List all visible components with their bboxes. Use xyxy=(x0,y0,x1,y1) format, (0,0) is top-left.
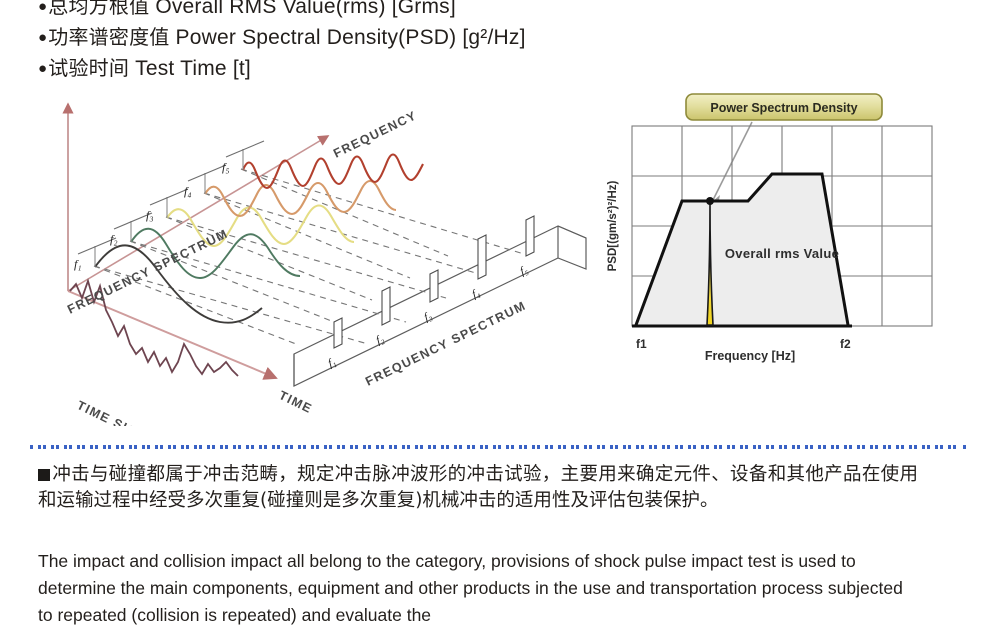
psd-callout-anchor-dot xyxy=(706,197,714,205)
waterfall-diagram: f₁ f₂ f₃ f₄ f₅ f₁ f₂ f₃ xyxy=(38,86,598,426)
figure-band: f₁ f₂ f₃ f₄ f₅ f₁ f₂ f₃ xyxy=(38,86,960,426)
spectrum-bar-label-f2: f₂ xyxy=(374,333,385,347)
psd-x-tick-end: f2 xyxy=(840,337,851,351)
psd-chart: Power Spectrum Density xyxy=(600,86,960,404)
diagram-base-slab xyxy=(294,226,586,386)
spectrum-bar-label-f3: f₃ xyxy=(422,310,433,324)
bullet-label-cn-0: 总均方根值 xyxy=(48,0,149,18)
bullet-label-cn-2: 试验时间 xyxy=(48,56,129,80)
label-frequency-axis: FREQUENCY xyxy=(331,108,419,161)
spectrum-bar-label-f4: f₄ xyxy=(470,287,481,301)
psd-x-tick-start: f1 xyxy=(636,337,647,351)
psd-inner-label: Overall rms Value xyxy=(725,246,839,261)
bullet-label-en-2: Test Time [t] xyxy=(135,57,251,80)
freq-tick-label-f5: f₅ xyxy=(222,160,230,174)
component-waveforms xyxy=(70,155,423,377)
paragraph-chinese: 冲击与碰撞都属于冲击范畴，规定冲击脉冲波形的冲击试验，主要用来确定元件、设备和其… xyxy=(38,462,918,514)
freq-tick-label-f2: f₂ xyxy=(110,232,118,246)
spectrum-bar-label-f5: f₅ xyxy=(518,264,529,278)
projection-guides xyxy=(94,169,524,344)
bullet-label-cn-1: 功率谱密度值 xyxy=(48,25,169,49)
bullet-dot-icon: ● xyxy=(38,0,47,15)
freq-tick-label-f3: f₃ xyxy=(146,208,154,222)
divider-svg xyxy=(30,444,970,450)
section-divider xyxy=(30,437,970,443)
psd-chart-svg: Power Spectrum Density xyxy=(600,86,960,404)
frequency-axis-tick-labels: f₁ f₂ f₃ f₄ f₅ xyxy=(74,160,230,271)
paragraph-chinese-text: 冲击与碰撞都属于冲击范畴，规定冲击脉冲波形的冲击试验，主要用来确定元件、设备和其… xyxy=(38,464,918,511)
bullet-list: ●总均方根值 Overall RMS Value(rms) [Grms] ●功率… xyxy=(38,0,938,84)
diagram-annotations: FREQUENCY SPECTRUM FREQUENCY TIME SIGNAL… xyxy=(65,108,528,426)
bullet-dot-icon: ● xyxy=(38,60,47,77)
bullet-item-2: ●试验时间 Test Time [t] xyxy=(38,53,938,84)
bullet-item-0: ●总均方根值 Overall RMS Value(rms) [Grms] xyxy=(38,0,938,22)
bullet-item-1: ●功率谱密度值 Power Spectral Density(PSD) [g²/… xyxy=(38,22,938,53)
divider-dots xyxy=(30,445,966,449)
frequency-axis-ticks xyxy=(78,141,264,267)
bullet-label-en-0: Overall RMS Value(rms) [Grms] xyxy=(155,0,456,18)
psd-y-axis-label: PSD[(gm/s²)²/Hz) xyxy=(607,180,619,271)
bullet-label-en-1: Power Spectral Density(PSD) [g²/Hz] xyxy=(176,26,526,49)
label-time-axis: TIME xyxy=(277,388,315,416)
freq-tick-label-f1: f₁ xyxy=(74,257,82,271)
freq-tick-label-f4: f₄ xyxy=(184,184,192,198)
square-bullet-icon xyxy=(38,469,50,481)
psd-x-axis-label: Frequency [Hz] xyxy=(705,349,795,363)
paragraph-english: The impact and collision impact all belo… xyxy=(38,548,918,629)
bullet-dot-icon: ● xyxy=(38,29,47,46)
spectrum-bars xyxy=(334,216,534,348)
label-time-signal: TIME SIGNAL xyxy=(75,398,167,426)
spectrum-bar-label-f1: f₁ xyxy=(326,356,337,370)
page-root: ●总均方根值 Overall RMS Value(rms) [Grms] ●功率… xyxy=(0,0,1000,623)
waterfall-svg: f₁ f₂ f₃ f₄ f₅ f₁ f₂ f₃ xyxy=(38,86,598,426)
psd-callout-label: Power Spectrum Density xyxy=(710,101,857,115)
